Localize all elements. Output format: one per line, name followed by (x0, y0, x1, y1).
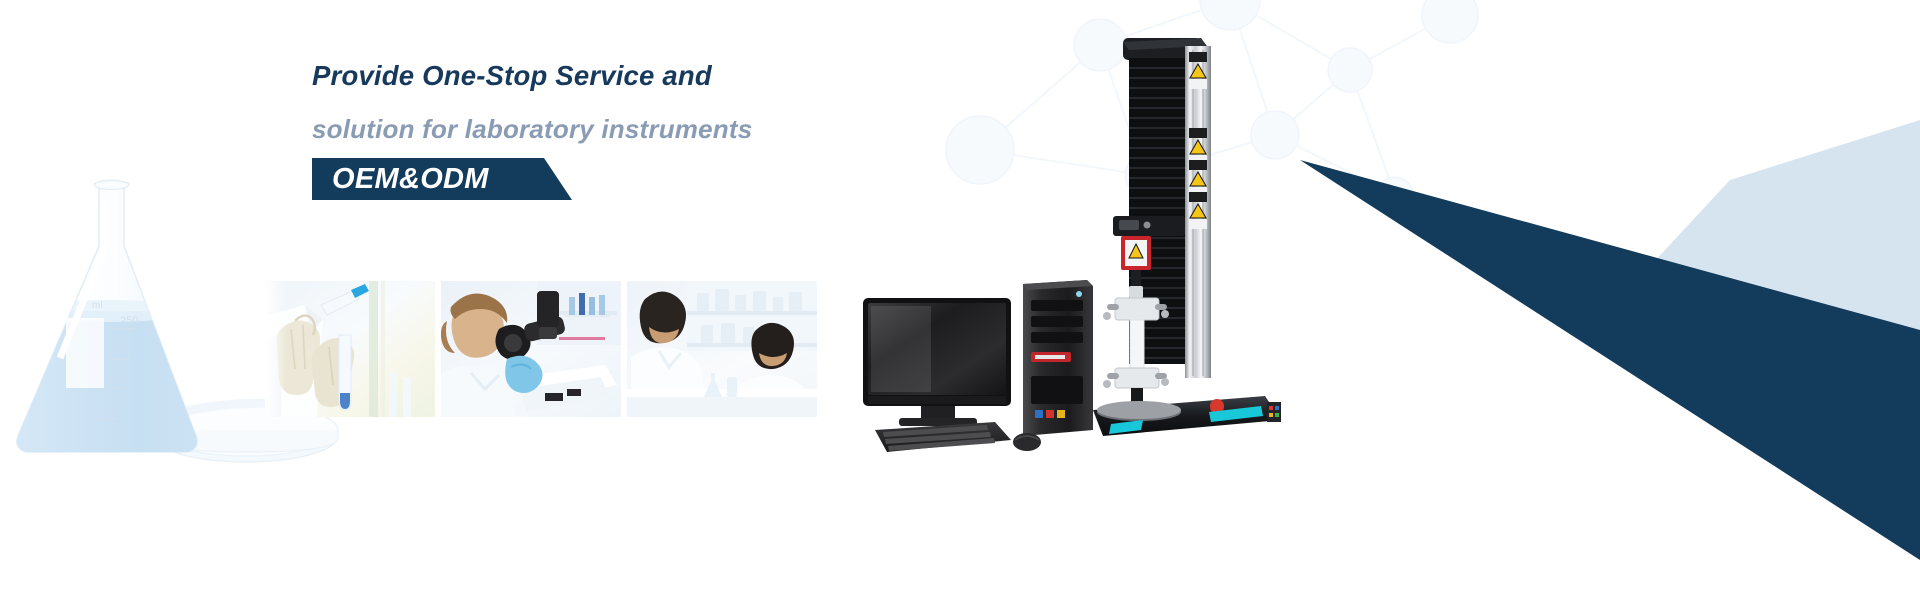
oem-odm-badge: OEM&ODM (312, 158, 572, 200)
svg-text:150: 150 (108, 375, 126, 387)
universal-testing-machine (1085, 20, 1305, 440)
keyboard (875, 422, 1011, 452)
photo-lab-bench (627, 281, 817, 417)
svg-text:100: 100 (102, 405, 120, 417)
svg-text:ml: ml (92, 300, 103, 311)
upper-grip (1103, 298, 1169, 320)
hero-banner: 250 200 150 100 ml Provide One-Stop Serv… (0, 0, 1920, 597)
svg-text:200: 200 (114, 345, 132, 357)
mouse (1013, 433, 1041, 451)
photo-microscope (441, 281, 621, 417)
headline-block: Provide One-Stop Service and solution fo… (312, 56, 932, 200)
headline-line-1: Provide One-Stop Service and (312, 56, 932, 96)
machine-base (1093, 396, 1281, 436)
photo-strip (265, 281, 817, 417)
svg-text:250: 250 (120, 315, 138, 327)
badge-label: OEM&ODM (332, 162, 489, 196)
headline-line-2: solution for laboratory instruments (312, 109, 932, 149)
decor-navy-arrow (1300, 140, 1920, 560)
lower-grip (1103, 368, 1169, 388)
pc-tower (1023, 280, 1093, 436)
photo-pipetting (265, 281, 435, 417)
lcd-monitor (863, 298, 1011, 426)
load-cell (1121, 236, 1151, 270)
